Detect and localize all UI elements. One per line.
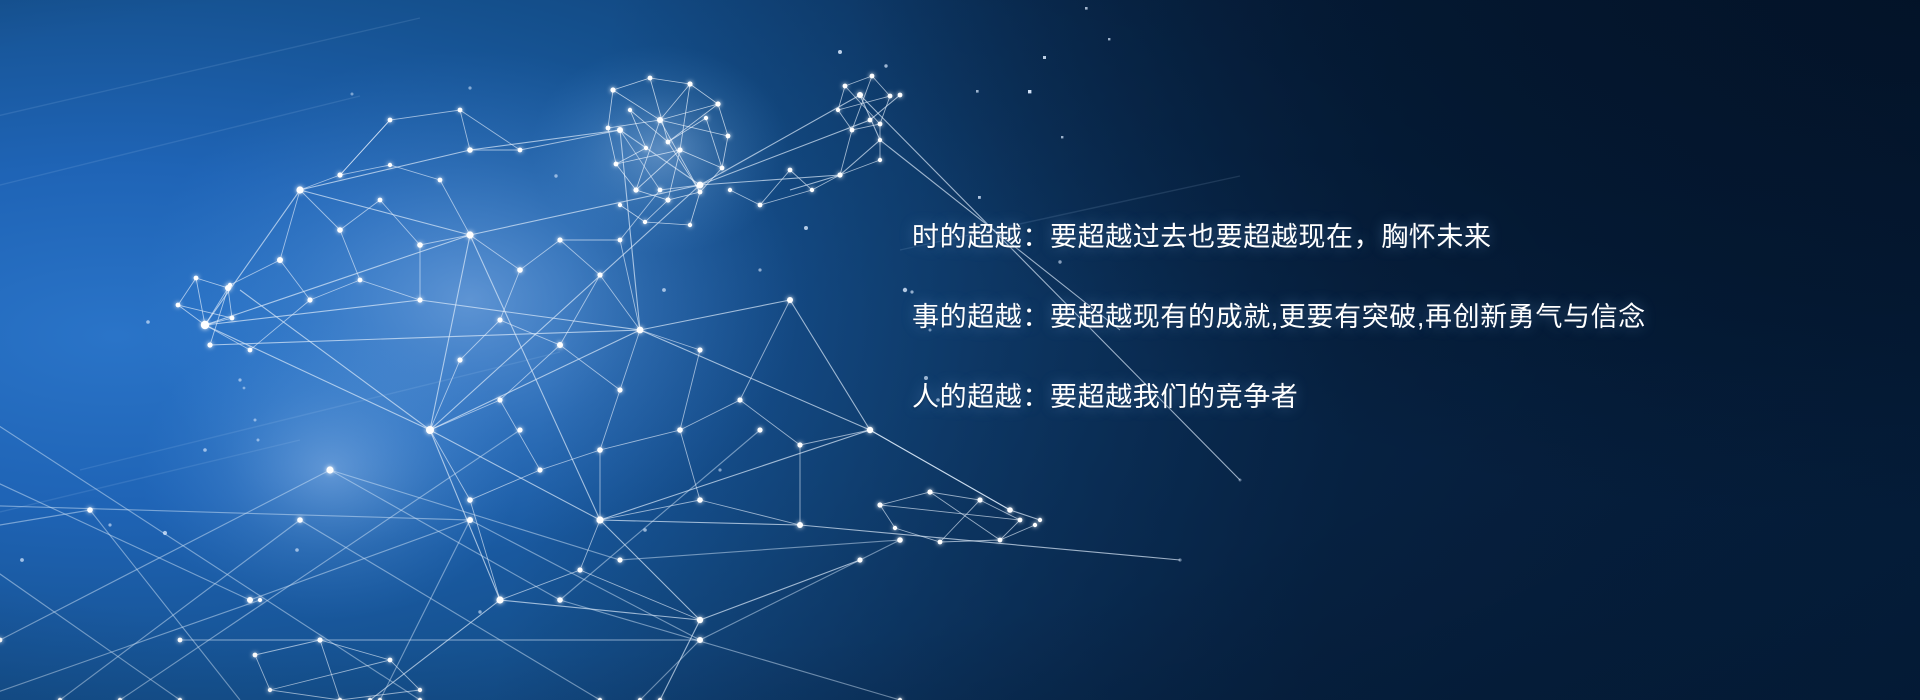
caption-line-time: 时的超越：要超越过去也要超越现在，胸怀未来 [912, 224, 1832, 251]
caption-block: 时的超越：要超越过去也要超越现在，胸怀未来 事的超越：要超越现有的成就,更要有突… [912, 224, 1832, 411]
caption-line-matter: 事的超越：要超越现有的成就,更要有突破,再创新勇气与信念 [912, 304, 1832, 331]
caption-line-people: 人的超越：要超越我们的竞争者 [912, 384, 1832, 411]
hero-banner: 时的超越：要超越过去也要超越现在，胸怀未来 事的超越：要超越现有的成就,更要有突… [0, 0, 1920, 700]
